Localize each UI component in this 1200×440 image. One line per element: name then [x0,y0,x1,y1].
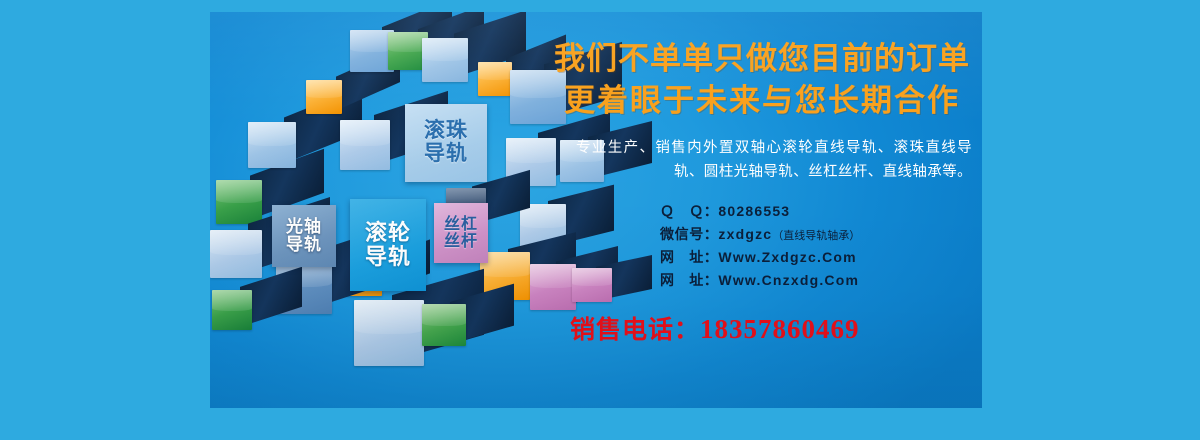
tile-line-1: 滚轮 [365,221,411,245]
banner-copy: 我们不单单只做您目前的订单 更着眼于未来与您长期合作 专业生产、销售内外置双轴心… [552,38,972,346]
sales-phone-label: 销售电话： [570,316,700,344]
tile-line-2: 导轨 [424,143,468,166]
cube-face [422,38,468,82]
tile-line-2: 导轨 [286,236,322,254]
cube-block [216,180,262,224]
tile-line-1: 光轴 [286,218,322,236]
contact-row-qq: Ｑ Ｑ：80286553 [660,200,972,223]
headline-line-2: 更着眼于未来与您长期合作 [552,80,972,122]
tile-line-1: 丝杠 [444,216,478,233]
cube-block [478,62,512,96]
page-root: 滚珠 导轨 光轴 导轨 滚轮 导轨 丝杠 丝杆 [0,0,1200,440]
label-tile-sigang-sigan: 丝杠 丝杆 [434,203,488,263]
headline: 我们不单单只做您目前的订单 更着眼于未来与您长期合作 [552,38,972,122]
cube-block [422,304,466,346]
promo-banner: 滚珠 导轨 光轴 导轨 滚轮 导轨 丝杠 丝杆 [210,12,982,408]
tile-line-2: 丝杆 [444,233,478,250]
sales-phone-number: 18357860469 [700,314,860,344]
tile-line-2: 导轨 [365,245,411,269]
cube-block [340,120,390,170]
cube-face [422,304,466,346]
label-tile-guangzhou-daogui: 光轴 导轨 [272,205,336,267]
contact-label: 微信号： [660,223,718,246]
cube-face [210,230,262,278]
contact-label: Ｑ Ｑ： [660,200,718,223]
label-tile-gunlun-daogui: 滚轮 导轨 [350,199,426,291]
contact-block: Ｑ Ｑ：80286553 微信号：zxdgzc（直线导轨轴承） 网 址：Www.… [552,200,972,292]
sales-phone: 销售电话：18357860469 [552,310,972,346]
cube-block [422,38,468,82]
contact-value[interactable]: Www.Cnzxdg.Com [718,272,859,288]
contact-value[interactable]: Www.Zxdgzc.Com [718,249,856,265]
cube-block [354,300,424,366]
contact-label: 网 址： [660,246,718,269]
cube-face [212,290,252,330]
tile-line-1: 滚珠 [424,120,468,143]
headline-line-1: 我们不单单只做您目前的订单 [552,38,972,80]
contact-row-website-1[interactable]: 网 址：Www.Zxdgzc.Com [660,246,972,269]
contact-label: 网 址： [660,269,718,292]
label-tile-gunzhu-daogui: 滚珠 导轨 [405,104,487,182]
cube-block [306,80,342,114]
cube-block [248,122,296,168]
contact-value: 80286553 [718,203,790,219]
cube-face [306,80,342,114]
contact-row-wechat: 微信号：zxdgzc（直线导轨轴承） [660,223,972,246]
cube-face [478,62,512,96]
cube-face [340,120,390,170]
contact-value: zxdgzc [718,226,772,242]
cube-block [212,290,252,330]
description-text: 专业生产、销售内外置双轴心滚轮直线导轨、滚珠直线导轨、圆柱光轴导轨、丝杠丝杆、直… [552,137,972,184]
cube-block [210,230,262,278]
cube-face [354,300,424,366]
cube-face [216,180,262,224]
contact-row-website-2[interactable]: 网 址：Www.Cnzxdg.Com [660,269,972,292]
cube-face [248,122,296,168]
contact-note: （直线导轨轴承） [772,230,860,242]
